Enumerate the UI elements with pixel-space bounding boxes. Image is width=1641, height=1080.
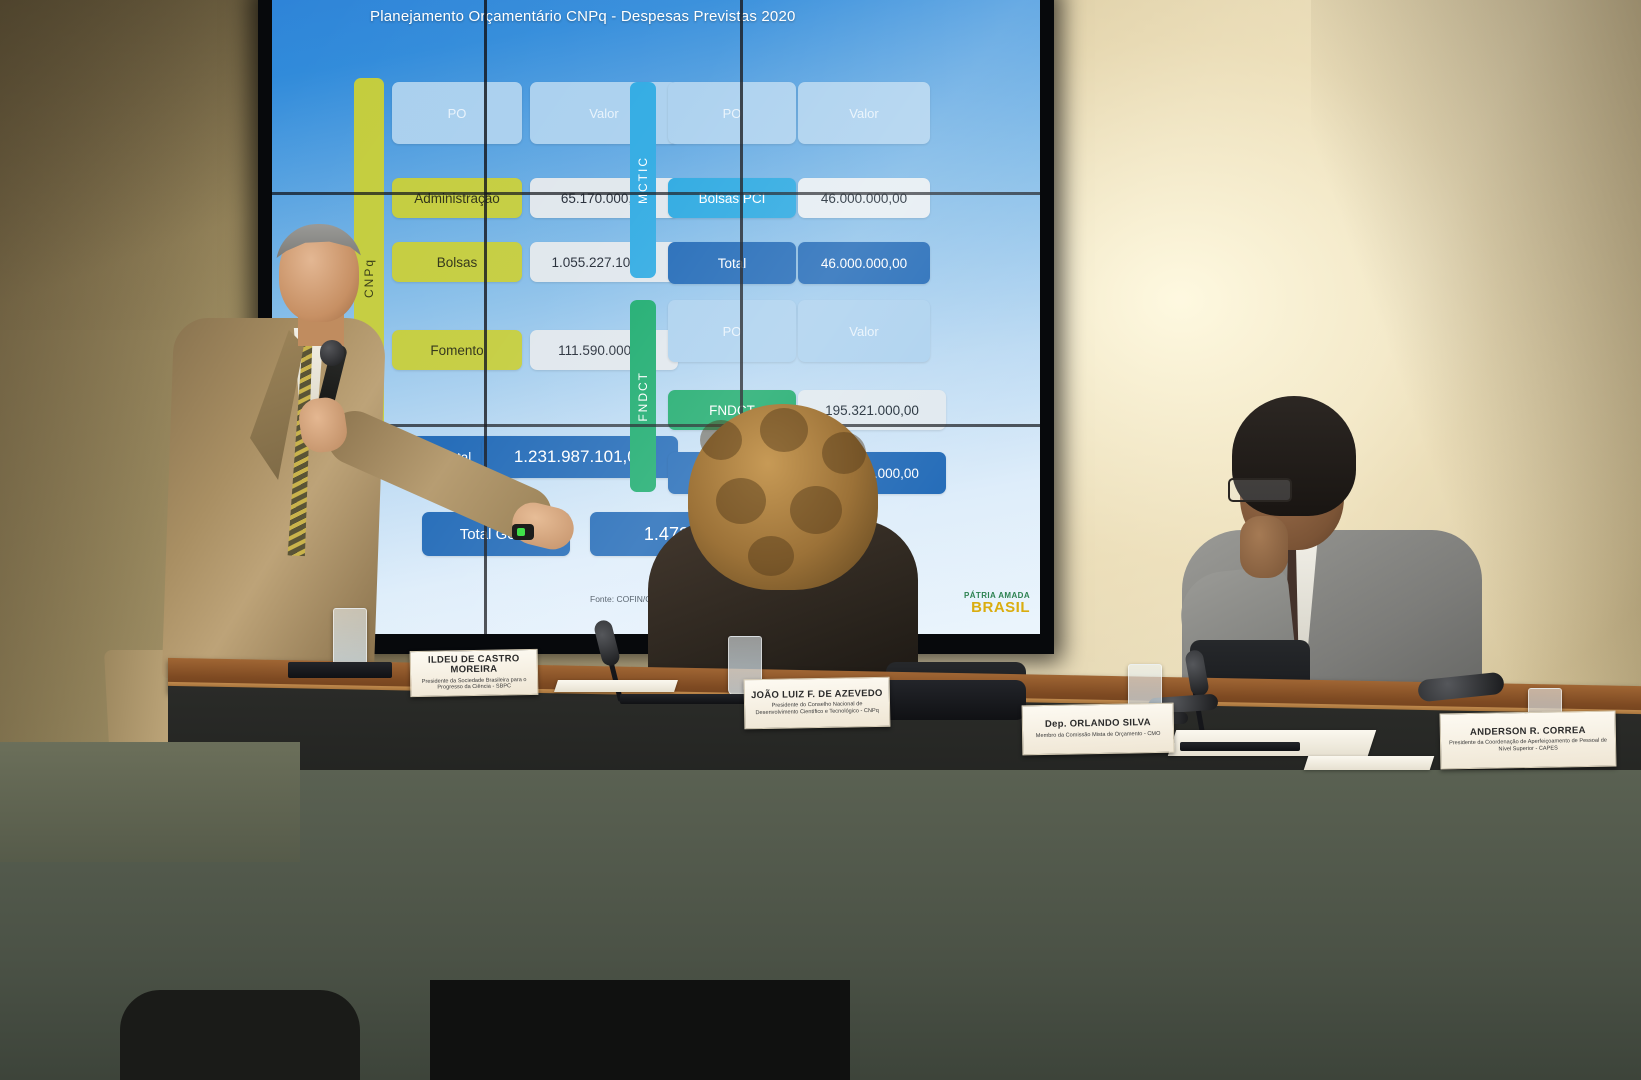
nameplate-name: ILDEU DE CASTRO MOREIRA [417, 654, 531, 677]
dais-step [0, 742, 300, 862]
eyeglasses-icon [1228, 478, 1292, 502]
foreground-shadow [430, 980, 850, 1080]
row-label-total-mctic: Total [668, 242, 796, 284]
panelist-right-hand-on-chin [1240, 516, 1288, 578]
document-folder[interactable] [1180, 742, 1300, 751]
sidebar-label-fndct: FNDCT [636, 371, 650, 422]
paper-sheet[interactable] [554, 680, 678, 692]
hair-curl [822, 432, 866, 474]
foreground-chair [120, 990, 360, 1080]
nameplate-ildeu: ILDEU DE CASTRO MOREIRA Presidente da So… [410, 649, 539, 697]
hair-curl [748, 536, 794, 576]
row-value-bolsas-pci: 46.000.000,00 [798, 178, 930, 218]
document-folder[interactable] [288, 662, 392, 678]
paper-sheet[interactable] [1304, 756, 1435, 770]
brasil-logo: PÁTRIA AMADA BRASIL [964, 592, 1030, 616]
header-po-cnpq: PO [392, 82, 522, 144]
header-po-mctic: PO [668, 82, 796, 144]
nameplate-role: Presidente da Coordenação de Aperfeiçoam… [1447, 738, 1609, 754]
row-label-fomento: Fomento [392, 330, 522, 370]
presentation-screen: Planejamento Orçamentário CNPq - Despesa… [272, 0, 1040, 634]
section-sidebar-mctic: MCTIC [630, 82, 656, 278]
hair-curl [700, 420, 742, 460]
handheld-microphone-head[interactable] [320, 340, 344, 366]
row-label-bolsas-pci: Bolsas PCI [668, 178, 796, 218]
section-sidebar-fndct: FNDCT [630, 300, 656, 492]
brasil-logo-line2: BRASIL [964, 600, 1030, 616]
slide-title: Planejamento Orçamentário CNPq - Despesa… [370, 8, 796, 25]
hair-curl [716, 478, 766, 524]
nameplate-anderson: ANDERSON R. CORREA Presidente da Coorden… [1440, 710, 1617, 769]
header-po-fndct: PO [668, 300, 796, 362]
sidebar-label-cnpq: CNPq [362, 258, 376, 298]
header-valor-fndct: Valor [798, 300, 930, 362]
presentation-clicker[interactable] [512, 524, 534, 540]
bag-on-table [872, 680, 1026, 720]
hair-curl [790, 486, 842, 534]
nameplate-name: ANDERSON R. CORREA [1470, 726, 1586, 738]
nameplate-orlando: Dep. ORLANDO SILVA Membro da Comissão Mi… [1022, 703, 1175, 756]
nameplate-role: Presidente da Sociedade Brasileira para … [417, 677, 531, 693]
water-glass[interactable] [333, 608, 367, 668]
videowall-seam-vertical-1 [484, 0, 487, 634]
nameplate-name: Dep. ORLANDO SILVA [1045, 718, 1151, 730]
row-value-total-mctic: 46.000.000,00 [798, 242, 930, 284]
hair-curl [760, 408, 808, 452]
scene-root: Planejamento Orçamentário CNPq - Despesa… [0, 0, 1641, 1080]
nameplate-role: Membro da Comissão Mista de Orçamento - … [1036, 731, 1161, 740]
sidebar-label-mctic: MCTIC [636, 156, 650, 204]
document-folder[interactable] [620, 694, 752, 704]
videowall-seam-horizontal-1 [272, 192, 1040, 195]
row-label-bolsas: Bolsas [392, 242, 522, 282]
nameplate-role: Presidente do Conselho Nacional de Desen… [751, 701, 883, 717]
header-valor-mctic: Valor [798, 82, 930, 144]
nameplate-name: JOÃO LUIZ F. DE AZEVEDO [751, 689, 883, 702]
row-label-administracao: Administração [392, 178, 522, 218]
nameplate-joao: JOÃO LUIZ F. DE AZEVEDO Presidente do Co… [744, 677, 891, 730]
